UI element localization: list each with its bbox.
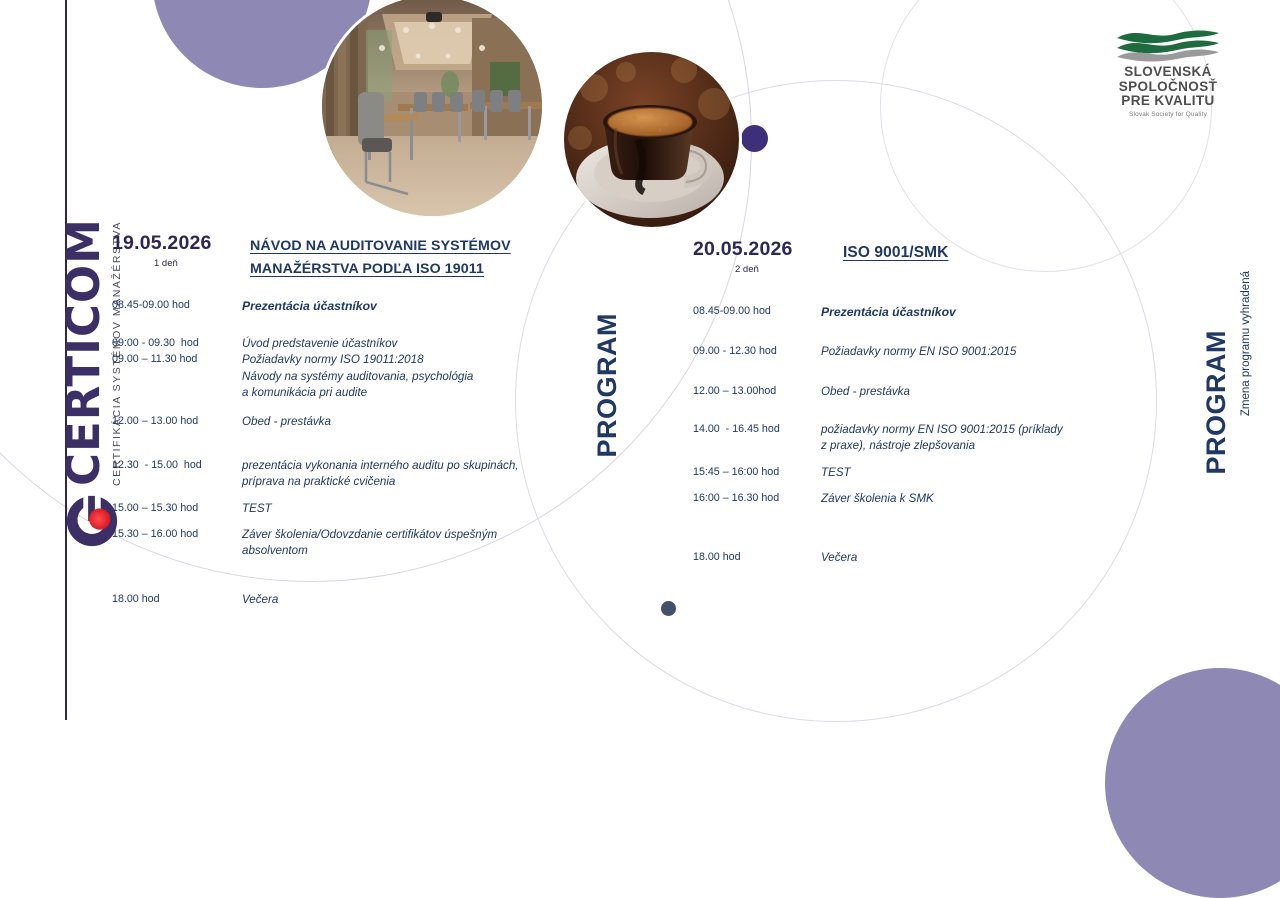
day-2-date: 20.05.2026 <box>693 238 793 261</box>
schedule-row: 15.30 – 16.00 hod Záver školenia/Odovzda… <box>112 527 582 560</box>
ssq-name-line-3: PRE KVALITU <box>1108 94 1228 109</box>
schedule-row: 14.00 - 16.45 hod požiadavky normy EN IS… <box>693 422 1173 455</box>
day-1-number: 1 deň <box>154 258 178 269</box>
row-time: 08.45-09.00 hod <box>693 304 821 321</box>
day-1-title-line-1: NÁVOD NA AUDITOVANIE SYSTÉMOV <box>250 238 511 254</box>
slate-dot-accent <box>661 601 676 616</box>
ssq-tagline: Slovak Society for Quality <box>1108 111 1228 118</box>
certicom-wordmark: CERTICOM <box>61 218 106 486</box>
day-2-header: 20.05.2026 2 deň ISO 9001/SMK <box>693 238 1173 304</box>
wave-lines-icon <box>1115 28 1221 62</box>
purple-circle-bottom-right <box>1105 668 1280 898</box>
row-description: požiadavky normy EN ISO 9001:2015 (príkl… <box>821 422 1063 455</box>
schedule-row: 08.45-09.00 hod Prezentácia účastníkov <box>693 304 1173 321</box>
schedule-row: 16:00 – 16.30 hod Záver školenia k SMK <box>693 491 1173 507</box>
row-time: 18.00 hod <box>693 550 821 566</box>
row-description: Obed - prestávka <box>242 414 331 430</box>
day-column-1: 19.05.2026 1 deň NÁVOD NA AUDITOVANIE SY… <box>112 232 582 628</box>
day-1-date: 19.05.2026 <box>112 232 212 255</box>
purple-circle-top-left <box>152 0 372 88</box>
row-time: 16:00 – 16.30 hod <box>693 491 821 507</box>
row-description: Úvod predstavenie účastníkov Požiadavky … <box>242 336 473 402</box>
row-time: 08.45-09.00 hod <box>112 298 242 315</box>
row-time: 09.00 - 12.30 hod <box>693 344 821 360</box>
row-description: Prezentácia účastníkov <box>821 304 956 321</box>
row-description: TEST <box>242 501 272 517</box>
slovak-society-quality-logo: SLOVENSKÁ SPOLOČNOSŤ PRE KVALITU Slovak … <box>1108 28 1228 118</box>
row-description: Večera <box>242 592 278 608</box>
schedule-row: 09.00 - 12.30 hod Požiadavky normy EN IS… <box>693 344 1173 360</box>
ssq-name-line-2: SPOLOČNOSŤ <box>1108 80 1228 95</box>
schedule-row: 15:45 – 16:00 hod TEST <box>693 465 1173 481</box>
coffee-cup-photo <box>564 52 739 227</box>
row-time: 15.00 – 15.30 hod <box>112 501 242 517</box>
program-change-note: Zmena programu vyhradená <box>1240 271 1252 416</box>
schedule-row: 15.00 – 15.30 hod TEST <box>112 501 582 517</box>
row-description: Prezentácia účastníkov <box>242 298 377 315</box>
schedule-row: 18.00 hod Večera <box>693 550 1173 566</box>
schedule-row: 18.00 hod Večera <box>112 592 582 608</box>
purple-dot-accent <box>741 125 768 152</box>
program-label-middle: PROGRAM <box>592 313 623 458</box>
schedule-row: 12.30 - 15.00 hod prezentácia vykonania … <box>112 458 582 491</box>
row-time: 12.00 – 13.00 hod <box>112 414 242 430</box>
day-2-number: 2 deň <box>735 264 759 275</box>
row-description: Záver školenia/Odovzdanie certifikátov ú… <box>242 527 497 560</box>
day-1-schedule: 08.45-09.00 hod Prezentácia účastníkov 0… <box>112 298 582 628</box>
row-time: 09:00 - 09.30 hod 09.00 – 11.30 hod <box>112 336 242 402</box>
row-description: prezentácia vykonania interného auditu p… <box>242 458 519 491</box>
row-description: Večera <box>821 550 857 566</box>
schedule-row: 12.00 – 13.00hod Obed - prestávka <box>693 384 1173 400</box>
row-time: 12.00 – 13.00hod <box>693 384 821 400</box>
row-description: Obed - prestávka <box>821 384 910 400</box>
day-1-title-line-2: MANAŽÉRSTVA PODĽA ISO 19011 <box>250 261 484 277</box>
row-time: 15:45 – 16:00 hod <box>693 465 821 481</box>
day-1-header: 19.05.2026 1 deň NÁVOD NA AUDITOVANIE SY… <box>112 232 582 298</box>
day-2-title: ISO 9001/SMK <box>843 240 1143 265</box>
slide-root: CERTICOM CERTIFIKÁCIA SYSTÉMOV MANAŽÉRST… <box>0 0 1280 720</box>
row-time: 14.00 - 16.45 hod <box>693 422 821 455</box>
conference-room-photo <box>322 0 542 216</box>
row-time: 15.30 – 16.00 hod <box>112 527 242 560</box>
schedule-row: 08.45-09.00 hod Prezentácia účastníkov <box>112 298 582 315</box>
row-time: 18.00 hod <box>112 592 242 608</box>
row-description: Požiadavky normy EN ISO 9001:2015 <box>821 344 1016 360</box>
row-time: 12.30 - 15.00 hod <box>112 458 242 491</box>
row-description: TEST <box>821 465 851 481</box>
schedule-row: 12.00 – 13.00 hod Obed - prestávka <box>112 414 582 430</box>
schedule-row: 09:00 - 09.30 hod 09.00 – 11.30 hod Úvod… <box>112 336 582 402</box>
ssq-name-line-1: SLOVENSKÁ <box>1108 65 1228 80</box>
day-column-2: 20.05.2026 2 deň ISO 9001/SMK 08.45-09.0… <box>693 238 1173 594</box>
program-label-right: PROGRAM <box>1201 330 1232 475</box>
day-1-title: NÁVOD NA AUDITOVANIE SYSTÉMOV MANAŽÉRSTV… <box>250 235 580 281</box>
row-description: Záver školenia k SMK <box>821 491 934 507</box>
day-2-schedule: 08.45-09.00 hod Prezentácia účastníkov 0… <box>693 304 1173 594</box>
